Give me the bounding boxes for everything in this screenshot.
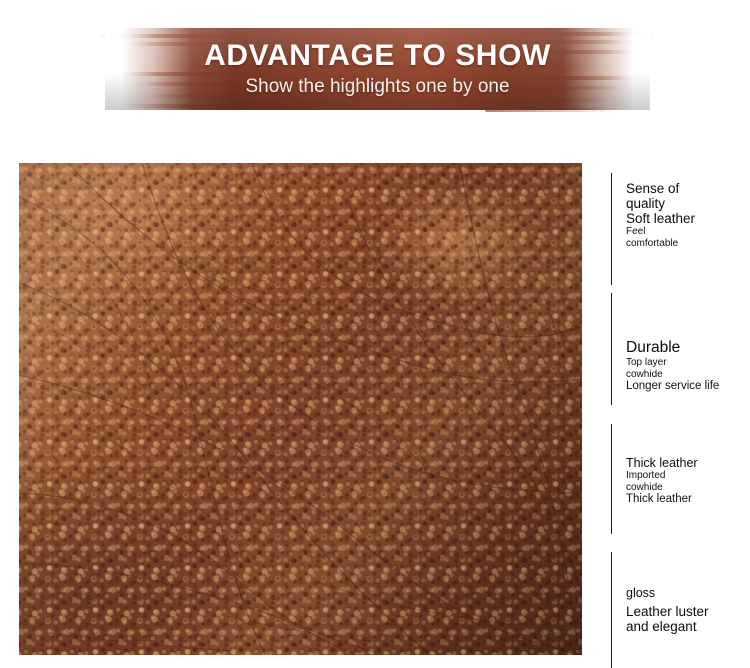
- leather-grain-fine: [19, 163, 582, 655]
- feature-item-durable: Durable Top layer cowhide Longer service…: [611, 293, 750, 405]
- feature-heading: Thick leather: [626, 456, 750, 470]
- feature-detail-line1: Top layer: [626, 357, 750, 369]
- feature-divider-line: [611, 552, 612, 668]
- feature-subheading: Longer service life: [626, 380, 750, 393]
- feature-detail-line2: cowhide: [626, 369, 750, 381]
- banner-text-group: ADVANTAGE TO SHOW Show the highlights on…: [105, 28, 650, 110]
- feature-item-gloss: gloss Leather luster and elegant: [611, 552, 750, 668]
- header-banner: ADVANTAGE TO SHOW Show the highlights on…: [0, 0, 750, 130]
- feature-divider-line: [611, 424, 612, 534]
- feature-heading: Durable: [626, 339, 750, 357]
- feature-item-sense-of-quality: Sense of quality Soft leather Feel comfo…: [611, 173, 750, 285]
- feature-detail-line2: comfortable: [626, 238, 750, 250]
- page-title: ADVANTAGE TO SHOW: [204, 40, 551, 72]
- leather-sheen-overlay: [19, 163, 582, 655]
- feature-item-thick-leather: Thick leather Imported cowhide Thick lea…: [611, 424, 750, 534]
- feature-list: Sense of quality Soft leather Feel comfo…: [611, 163, 750, 668]
- feature-detail-line1: Feel: [626, 226, 750, 238]
- feature-heading: gloss: [626, 586, 750, 600]
- feature-divider-line: [611, 293, 612, 405]
- feature-subheading: Soft leather: [626, 211, 750, 226]
- feature-subheading-line2: and elegant: [626, 619, 750, 634]
- feature-divider-line: [611, 173, 612, 285]
- leather-vignette-overlay: [19, 163, 582, 655]
- feature-subheading: Thick leather: [626, 493, 750, 506]
- feature-heading-line2: quality: [626, 196, 750, 211]
- feature-detail-line1: Imported: [626, 470, 750, 482]
- feature-heading: Sense of: [626, 181, 750, 196]
- leather-grain-coarse: [19, 163, 582, 655]
- product-leather-texture-image: [19, 163, 582, 655]
- feature-subheading-line1: Leather luster: [626, 604, 750, 619]
- page-subtitle: Show the highlights one by one: [245, 77, 509, 98]
- feature-detail-line2: cowhide: [626, 482, 750, 494]
- leather-crease-network: [19, 163, 582, 655]
